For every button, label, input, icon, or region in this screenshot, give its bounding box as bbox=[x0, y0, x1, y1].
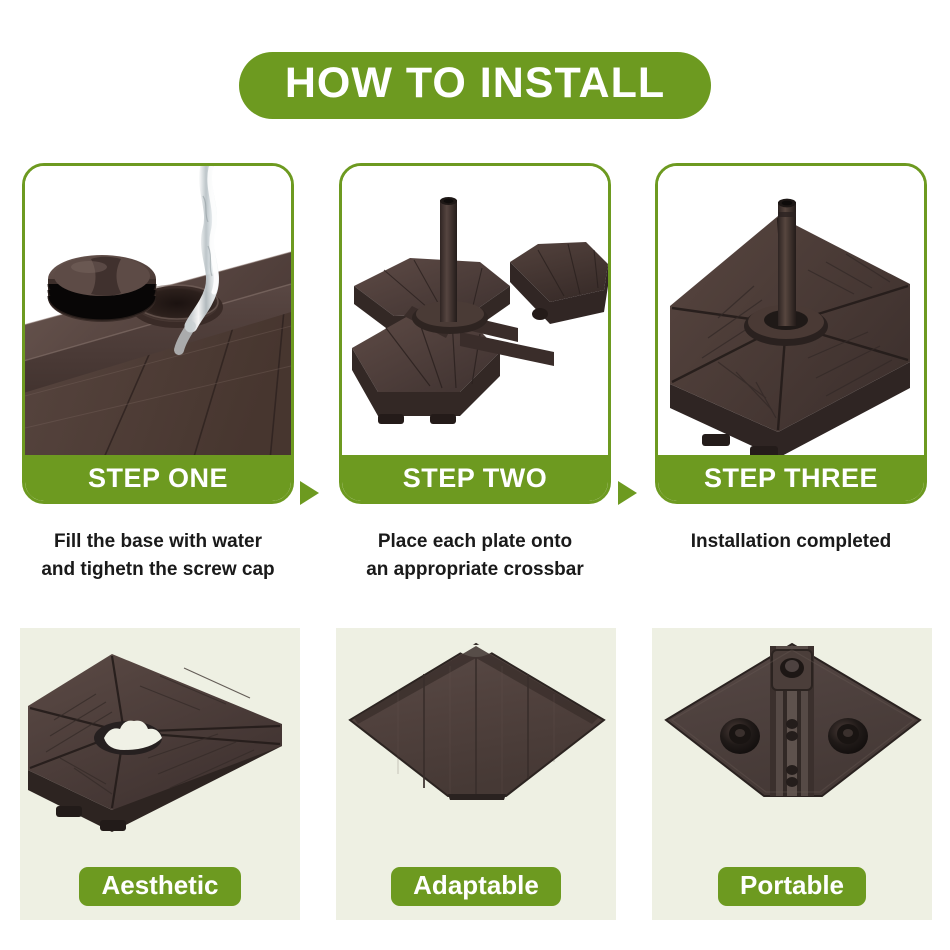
step-card-two: STEP TWO bbox=[339, 163, 611, 504]
step-two-label: STEP TWO bbox=[342, 455, 608, 501]
feature-aesthetic-photo bbox=[20, 628, 300, 856]
step-three-caption: Installation completed bbox=[655, 528, 927, 556]
feature-card-adaptable: Adaptable bbox=[336, 628, 616, 920]
step-arrow-two-to-three-icon bbox=[618, 481, 637, 505]
feature-adaptable-photo bbox=[336, 628, 616, 856]
step-card-three: STEP THREE bbox=[655, 163, 927, 504]
page-header: HOW TO INSTALL bbox=[0, 52, 950, 119]
install-steps-row: STEP ONE bbox=[0, 163, 950, 508]
step-two-caption: Place each plate onto an appropriate cro… bbox=[339, 528, 611, 583]
step-two-caption-line2: an appropriate crossbar bbox=[339, 556, 611, 584]
step-arrow-one-to-two-icon bbox=[300, 481, 319, 505]
step-one-caption-line2: and tighetn the screw cap bbox=[22, 556, 294, 584]
step-card-one: STEP ONE bbox=[22, 163, 294, 504]
step-one-caption: Fill the base with water and tighetn the… bbox=[22, 528, 294, 583]
step-two-photo bbox=[342, 166, 608, 460]
step-three-photo bbox=[658, 166, 924, 460]
step-three-label: STEP THREE bbox=[658, 455, 924, 501]
page-title: HOW TO INSTALL bbox=[239, 52, 711, 119]
feature-card-portable: Portable bbox=[652, 628, 932, 920]
step-one-caption-line1: Fill the base with water bbox=[22, 528, 294, 556]
step-three-caption-line1: Installation completed bbox=[655, 528, 927, 556]
step-one-label: STEP ONE bbox=[25, 455, 291, 501]
feature-adaptable-label: Adaptable bbox=[391, 867, 561, 906]
step-one-photo bbox=[25, 166, 291, 460]
feature-aesthetic-label: Aesthetic bbox=[79, 867, 240, 906]
feature-cards-row: Aesthetic bbox=[0, 628, 950, 923]
feature-portable-photo bbox=[652, 628, 932, 856]
feature-adaptable-label-wrap: Adaptable bbox=[336, 867, 616, 906]
feature-aesthetic-label-wrap: Aesthetic bbox=[20, 867, 300, 906]
feature-portable-label: Portable bbox=[718, 867, 866, 906]
feature-portable-label-wrap: Portable bbox=[652, 867, 932, 906]
feature-card-aesthetic: Aesthetic bbox=[20, 628, 300, 920]
step-captions-row: Fill the base with water and tighetn the… bbox=[0, 528, 950, 598]
step-two-caption-line1: Place each plate onto bbox=[339, 528, 611, 556]
